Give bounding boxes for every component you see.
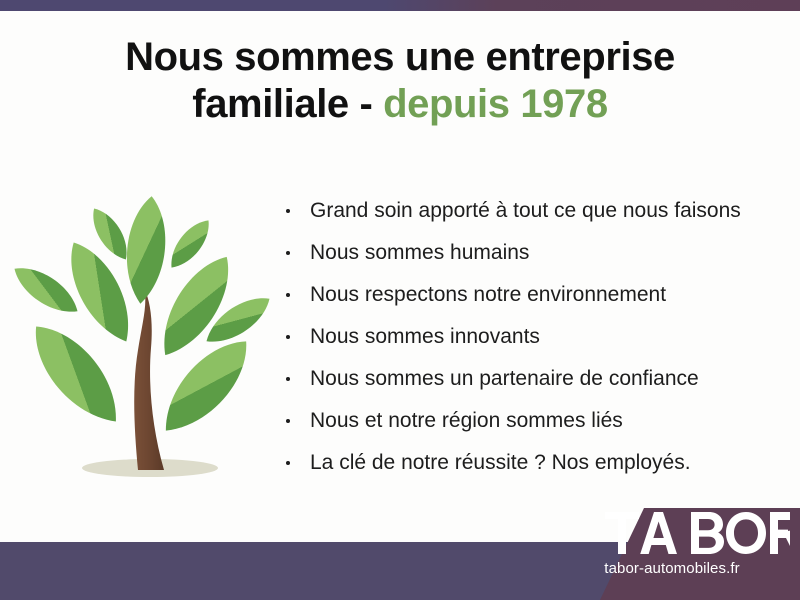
list-item-label: Nous sommes innovants (310, 325, 540, 348)
tree-trunk (134, 288, 164, 470)
list-item-label: Nous et notre région sommes liés (310, 409, 623, 432)
bullet-dot-icon (286, 377, 290, 381)
top-accent-bar (0, 0, 800, 11)
list-item: Nous et notre région sommes liés (284, 400, 784, 442)
title-plain-part: familiale - (192, 82, 383, 126)
list-item-label: Nous sommes humains (310, 241, 529, 264)
list-item-label: La clé de notre réussite ? Nos employés. (310, 451, 691, 474)
list-item: Nous respectons notre environnement (284, 274, 784, 316)
list-item: La clé de notre réussite ? Nos employés. (284, 442, 784, 484)
tabor-logo (605, 512, 790, 554)
bullet-dot-icon (286, 335, 290, 339)
list-item-label: Nous sommes un partenaire de confiance (310, 367, 699, 390)
bullet-dot-icon (286, 293, 290, 297)
value-bullet-list: Grand soin apporté à tout ce que nous fa… (284, 190, 784, 484)
bullet-dot-icon (286, 251, 290, 255)
list-item: Grand soin apporté à tout ce que nous fa… (284, 190, 784, 232)
bullet-dot-icon (286, 461, 290, 465)
list-item-label: Grand soin apporté à tout ce que nous fa… (310, 199, 741, 222)
logo-url-label: tabor-automobiles.fr (552, 560, 800, 577)
tree-icon (14, 178, 286, 490)
list-item: Nous sommes innovants (284, 316, 784, 358)
page-title: Nous sommes une entreprise familiale - d… (0, 34, 800, 128)
title-line-1: Nous sommes une entreprise (0, 34, 800, 81)
list-item: Nous sommes humains (284, 232, 784, 274)
title-accent-part: depuis 1978 (383, 82, 608, 126)
list-item: Nous sommes un partenaire de confiance (284, 358, 784, 400)
bullet-dot-icon (286, 209, 290, 213)
list-item-label: Nous respectons notre environnement (310, 283, 666, 306)
title-line-2: familiale - depuis 1978 (0, 81, 800, 128)
slide-canvas: Nous sommes une entreprise familiale - d… (0, 0, 800, 600)
bullet-dot-icon (286, 419, 290, 423)
